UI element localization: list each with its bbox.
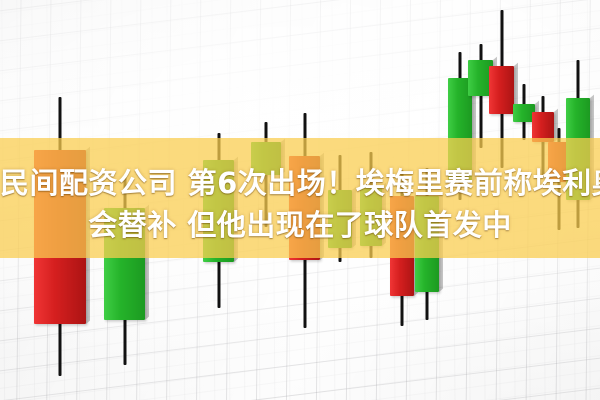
candlestick-body-down [489, 66, 514, 114]
headline-line-2: 会替补 但他出现在了球队首发中 [0, 208, 600, 242]
candlestick-banner-image: 民间配资公司 第6次出场！埃梅里赛前称埃利奥特 会替补 但他出现在了球队首发中 [0, 0, 600, 400]
headline-line-1: 民间配资公司 第6次出场！埃梅里赛前称埃利奥特 [0, 166, 600, 200]
